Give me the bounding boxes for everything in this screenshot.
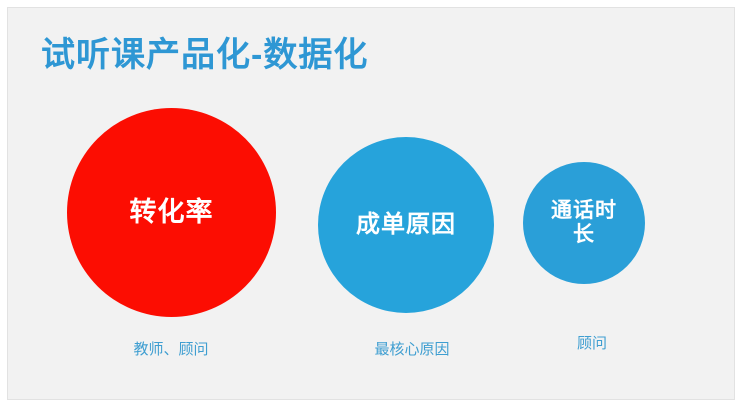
bubble-caption-order-reason: 最核心原因 bbox=[324, 341, 500, 359]
bubble-label: 通话时长 bbox=[533, 199, 635, 247]
bubble-order-reason[interactable]: 成单原因 bbox=[318, 137, 494, 313]
bubble-call-duration[interactable]: 通话时长 bbox=[523, 162, 645, 284]
bubble-caption-call-duration: 顾问 bbox=[531, 335, 653, 353]
slide-canvas: 试听课产品化-数据化 转化率 成单原因 通话时长 教师、顾问 最核心原因 顾问 bbox=[8, 8, 734, 399]
bubble-label: 成单原因 bbox=[348, 211, 464, 239]
page-title: 试听课产品化-数据化 bbox=[41, 35, 368, 76]
bubble-caption-conversion-rate: 教师、顾问 bbox=[71, 341, 271, 359]
bubble-conversion-rate[interactable]: 转化率 bbox=[67, 108, 276, 317]
bubble-label: 转化率 bbox=[122, 197, 222, 228]
